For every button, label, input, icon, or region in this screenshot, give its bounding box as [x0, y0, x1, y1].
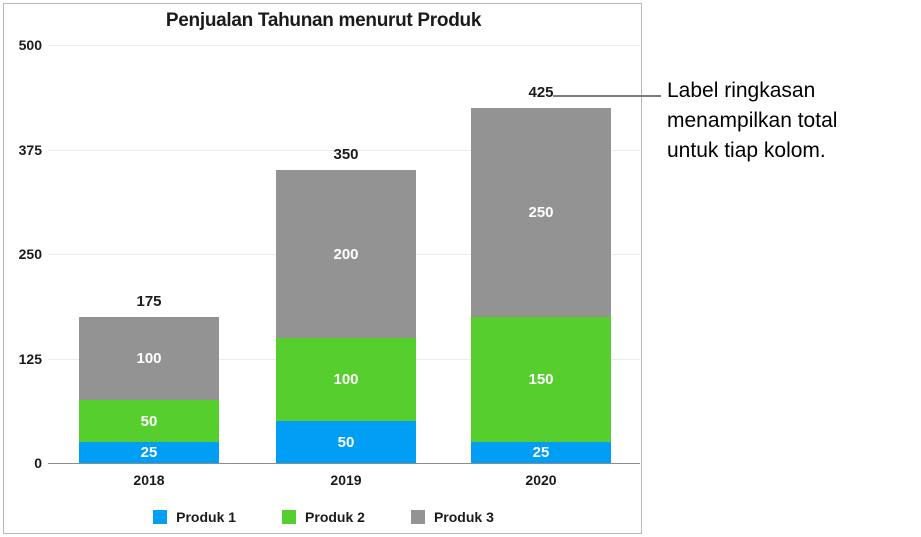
chart-legend: Produk 1Produk 2Produk 3: [4, 509, 643, 525]
bar-total-label: 425: [471, 84, 611, 101]
callout-line: Label ringkasan: [667, 76, 919, 106]
plot-area: 0125250375500100502517520182001005035020…: [4, 4, 643, 535]
bar-stack[interactable]: 1005025: [79, 317, 219, 463]
gridline-0: [48, 463, 640, 464]
chart-screenshot: Penjualan Tahunan menurut Produk 0125250…: [0, 0, 921, 537]
legend-swatch-icon: [153, 510, 167, 524]
chart-frame: Penjualan Tahunan menurut Produk 0125250…: [3, 3, 642, 534]
callout-line: untuk tiap kolom.: [667, 136, 919, 166]
legend-label: Produk 3: [434, 509, 494, 525]
y-axis-tick-label: 250: [4, 246, 42, 262]
gridline-500: [48, 45, 640, 46]
bar-segment[interactable]: 50: [276, 421, 416, 463]
legend-label: Produk 1: [176, 509, 236, 525]
x-axis-tick-label: 2020: [471, 472, 611, 488]
bar-segment[interactable]: 100: [276, 338, 416, 422]
callout-leader-line: [553, 95, 661, 97]
bar-segment[interactable]: 200: [276, 170, 416, 337]
bar-segment[interactable]: 250: [471, 108, 611, 317]
legend-swatch-icon: [282, 510, 296, 524]
bar-segment[interactable]: 100: [79, 317, 219, 401]
bar-total-label: 175: [79, 293, 219, 310]
bar-stack[interactable]: 20010050: [276, 170, 416, 463]
bar-stack[interactable]: 25015025: [471, 108, 611, 463]
y-axis-tick-label: 375: [4, 142, 42, 158]
y-axis-tick-label: 500: [4, 37, 42, 53]
bar-total-label: 350: [276, 146, 416, 163]
legend-swatch-icon: [411, 510, 425, 524]
bar-segment[interactable]: 25: [79, 442, 219, 463]
legend-item[interactable]: Produk 3: [411, 509, 494, 525]
x-axis-tick-label: 2018: [79, 472, 219, 488]
y-axis-tick-label: 125: [4, 351, 42, 367]
x-axis-tick-label: 2019: [276, 472, 416, 488]
callout-annotation-text: Label ringkasanmenampilkan totaluntuk ti…: [667, 76, 919, 166]
callout-line: menampilkan total: [667, 106, 919, 136]
y-axis-tick-label: 0: [4, 455, 42, 471]
bar-segment[interactable]: 50: [79, 400, 219, 442]
bar-segment[interactable]: 25: [471, 442, 611, 463]
legend-item[interactable]: Produk 1: [153, 509, 236, 525]
legend-item[interactable]: Produk 2: [282, 509, 365, 525]
bar-segment[interactable]: 150: [471, 317, 611, 442]
legend-label: Produk 2: [305, 509, 365, 525]
